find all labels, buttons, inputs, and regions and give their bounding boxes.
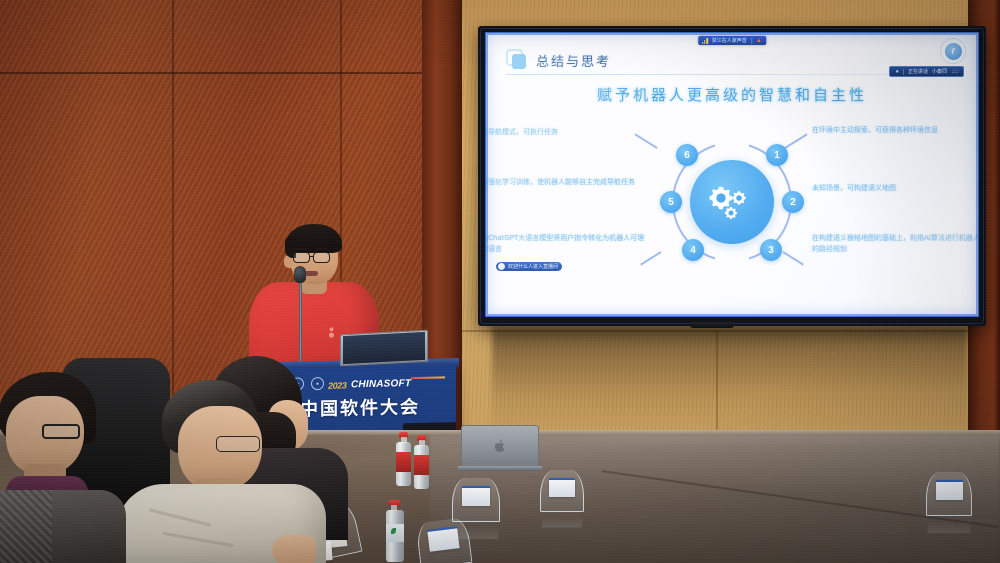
stream-speaker-name: 小秦同 bbox=[932, 68, 947, 75]
microphone-icon: ● bbox=[895, 69, 899, 75]
name-card-holder[interactable] bbox=[926, 472, 972, 518]
diagram-label-2: 未知场景，可构建语义地图 bbox=[812, 183, 979, 194]
attendee-hand bbox=[272, 535, 316, 563]
shirt-graphic bbox=[327, 326, 336, 339]
diagram-core: 1 2 3 4 5 6 bbox=[637, 127, 827, 277]
stream-top-banner: 浙江在人家声音 ▲ bbox=[698, 36, 766, 45]
screen-mount-foot bbox=[690, 322, 734, 328]
apple-logo-icon bbox=[494, 439, 506, 453]
signal-bars-icon bbox=[702, 38, 708, 44]
wall-panel-seam bbox=[0, 72, 462, 74]
glasses-bridge bbox=[310, 256, 314, 257]
screen-surface: f 总结与思考 赋予机器人更高级的智慧和自主性 自主导航模式，可执行任务 进行强… bbox=[485, 32, 979, 317]
name-card-holder[interactable] bbox=[415, 517, 472, 563]
screen-reflection bbox=[492, 327, 968, 437]
sound-wave-icon: ♫♫ bbox=[951, 69, 958, 75]
stream-join-text: 欢迎什么人进入直播间 bbox=[508, 263, 558, 270]
stream-top-banner-text: 浙江在人家声音 bbox=[712, 37, 747, 44]
glasses-icon bbox=[293, 252, 310, 263]
diagram-node-6: 6 bbox=[676, 144, 698, 166]
attendee-left bbox=[0, 372, 140, 563]
diagram-node-1: 1 bbox=[766, 144, 788, 166]
podium-accent-stripe bbox=[411, 376, 445, 379]
logo-monogram: f bbox=[945, 43, 962, 60]
diagram-node-4: 4 bbox=[682, 239, 704, 261]
attendee-coat-pattern bbox=[0, 490, 52, 563]
glasses-icon bbox=[216, 436, 260, 452]
presenter-eyebrow bbox=[315, 248, 329, 250]
slide-title: 赋予机器人更高级的智慧和自主性 bbox=[500, 84, 964, 105]
conference-room-scene: f 总结与思考 赋予机器人更高级的智慧和自主性 自主导航模式，可执行任务 进行强… bbox=[0, 0, 1000, 563]
flame-icon: ▲ bbox=[756, 38, 762, 44]
diagram-label-3: 在构建语义栅格地图的基础上，利用AI算法进行机器人的路径规划 bbox=[812, 233, 979, 254]
diagram-connector bbox=[634, 133, 657, 148]
diagram-node-5: 5 bbox=[660, 191, 682, 213]
diagram-connector bbox=[640, 251, 661, 265]
presenter-mouth bbox=[305, 271, 318, 276]
diagram-connector bbox=[784, 133, 807, 148]
attendee-laptop[interactable] bbox=[461, 425, 539, 468]
organization-logo-icon: f bbox=[940, 38, 966, 64]
attendee-center bbox=[120, 380, 330, 563]
rounded-square-icon bbox=[506, 49, 528, 71]
gears-icon bbox=[706, 179, 758, 225]
glasses-icon bbox=[313, 252, 330, 263]
diagram-node-2: 2 bbox=[782, 191, 804, 213]
podium-year: 2023 bbox=[328, 380, 346, 390]
diagram-label-6: 自主导航模式，可执行任务 bbox=[485, 127, 646, 138]
diagram-label-5: 进行强化学习训练，使机器人能够自主完成导航任务 bbox=[485, 177, 646, 188]
circular-process-diagram: 自主导航模式，可执行任务 进行强化学习训练，使机器人能够自主完成导航任务 借助C… bbox=[500, 111, 964, 293]
presenter-laptop-screen bbox=[343, 332, 425, 364]
diagram-node-3: 3 bbox=[760, 239, 782, 261]
microphone-icon bbox=[294, 266, 306, 283]
diagram-label-4: 借助ChatGPT大语言模型将用户指令转化为机器人可理解的语言 bbox=[485, 233, 646, 254]
glasses-icon bbox=[42, 424, 80, 439]
diagram-label-1: 在环境中主动探索，可获得各种环境信息 bbox=[812, 125, 979, 136]
user-avatar bbox=[498, 263, 505, 270]
name-card-holder[interactable] bbox=[540, 470, 584, 514]
podium-english-title: CHINASOFT bbox=[351, 378, 411, 390]
slide-section-label: 总结与思考 bbox=[536, 51, 611, 70]
presenter-eyebrow bbox=[294, 248, 308, 250]
stream-join-toast: 欢迎什么人进入直播间 bbox=[496, 262, 562, 271]
stream-speaking-status: 正在讲话 bbox=[908, 68, 928, 75]
stream-speaking-badge: ● 正在讲话 小秦同 ♫♫ bbox=[889, 66, 964, 77]
diagram-connector bbox=[782, 251, 803, 265]
diagram-hub bbox=[690, 160, 774, 244]
presentation-screen[interactable]: f 总结与思考 赋予机器人更高级的智慧和自主性 自主导航模式，可执行任务 进行强… bbox=[478, 26, 986, 326]
